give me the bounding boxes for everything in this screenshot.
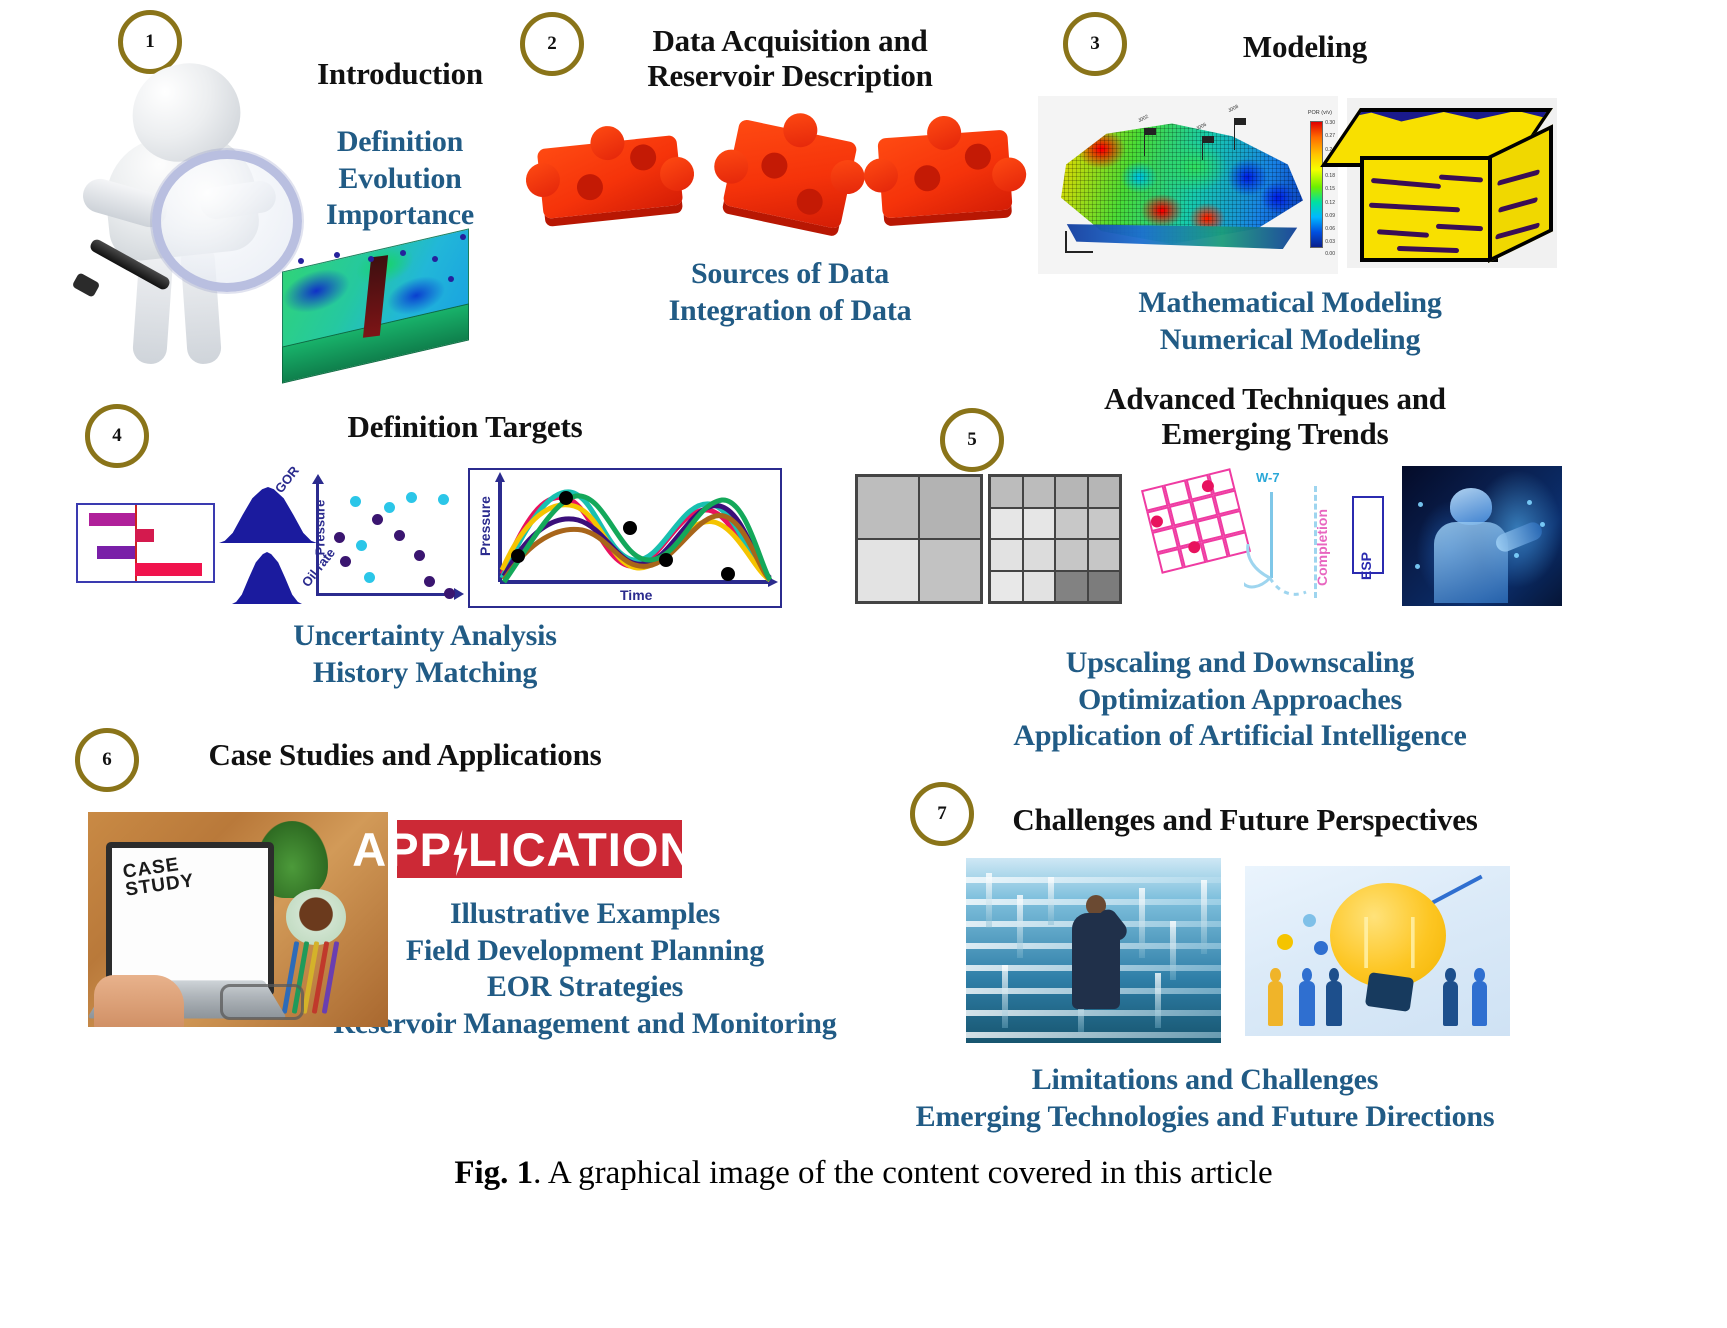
colorbar-tick: 0.00 — [1325, 251, 1335, 257]
person-figure — [1470, 968, 1489, 1026]
case-study-photo: CASE STUDY — [88, 812, 388, 1027]
colorbar-tick: 0.03 — [1325, 239, 1335, 245]
colorbar-tick: 0.12 — [1325, 200, 1335, 206]
section-badge-2: 2 — [520, 12, 584, 76]
section-subtitles-3: Mathematical Modeling Numerical Modeling — [1080, 285, 1500, 358]
section-title-3: Modeling — [1175, 30, 1435, 65]
magnifier-person-3d-icon — [80, 58, 290, 368]
puzzle-piece-3-icon — [877, 130, 1012, 219]
section-number-1: 1 — [145, 32, 155, 51]
colorbar-tick: 0.27 — [1325, 133, 1335, 139]
section-badge-4: 4 — [85, 404, 149, 468]
history-match-curves-icon: Time Pressure — [468, 468, 782, 608]
well-marker-j008: J008 — [1234, 118, 1235, 150]
section-number-5: 5 — [967, 430, 977, 449]
completion-label: Completion — [1314, 509, 1330, 586]
person-figure — [1325, 968, 1344, 1026]
well-completion-schematic-icon: W-7 Completion ESP — [1244, 466, 1394, 606]
probability-distribution-small-icon — [232, 552, 302, 604]
pink-well-grid-icon — [1141, 468, 1251, 574]
section-badge-7: 7 — [910, 782, 974, 846]
section-title-1: Introduction — [250, 57, 550, 92]
figure-caption-label: Fig. 1 — [454, 1155, 533, 1191]
axis-label-pressure-svg: Pressure — [477, 496, 493, 556]
section-number-3: 3 — [1090, 34, 1100, 53]
section-title-7: Challenges and Future Perspectives — [1000, 803, 1490, 838]
colorbar-tick: 0.30 — [1325, 120, 1335, 126]
section-title-2: Data Acquisition and Reservoir Descripti… — [600, 24, 980, 93]
section-title-4: Definition Targets — [275, 410, 655, 445]
section-badge-3: 3 — [1063, 12, 1127, 76]
section-subtitles-7: Limitations and Challenges Emerging Tech… — [690, 1062, 1720, 1135]
person-figure — [1266, 968, 1285, 1026]
axis-label-pressure-scatter: Pressure — [312, 500, 327, 556]
axis-label-time-svg: Time — [620, 587, 653, 603]
colorbar-title: POR (v/v) — [1308, 110, 1332, 116]
applications-banner-right: LICATIONS — [468, 823, 727, 876]
puzzle-piece-1-icon — [537, 135, 684, 219]
fine-grid-icon — [988, 474, 1122, 604]
crossplot-scatter-icon — [316, 480, 456, 596]
probability-distribution-large-icon — [219, 487, 317, 543]
section-title-5: Advanced Techniques and Emerging Trends — [1045, 382, 1505, 451]
reservoir-block-3d-icon — [282, 250, 467, 360]
figure-caption-text: . A graphical image of the content cover… — [533, 1155, 1273, 1191]
lightning-bolt-icon — [450, 830, 470, 876]
ai-robot-image — [1402, 466, 1562, 606]
person-figure — [1298, 968, 1317, 1026]
esp-label: ESP — [1358, 552, 1374, 580]
section-subtitles-2: Sources of Data Integration of Data — [615, 256, 965, 329]
section-title-6: Case Studies and Applications — [195, 738, 615, 773]
porosity-3d-map-icon: J002 J006 J008 POR (v/v) 0.30 0.27 0.24 … — [1038, 96, 1338, 274]
puzzle-piece-2-icon — [722, 118, 858, 229]
person-figure — [1441, 968, 1460, 1026]
section-subtitles-5: Upscaling and Downscaling Optimization A… — [960, 645, 1520, 755]
colorbar-tick: 0.06 — [1325, 226, 1335, 232]
maze-businessman-photo — [966, 858, 1221, 1043]
well-label-j002: J002 — [1137, 114, 1149, 124]
colorbar-tick: 0.18 — [1325, 173, 1335, 179]
colorbar-tick: 0.09 — [1325, 213, 1335, 219]
section-number-6: 6 — [102, 750, 112, 769]
facies-cube-3d-icon — [1347, 98, 1557, 268]
well-label-j008: J008 — [1227, 104, 1239, 114]
esp-box: ESP — [1352, 496, 1384, 574]
section-badge-5: 5 — [940, 408, 1004, 472]
well-marker-j002: J002 — [1144, 128, 1145, 156]
section-number-2: 2 — [547, 34, 557, 53]
well-marker-j006: J006 — [1202, 136, 1203, 160]
applications-banner: APPLICATIONS — [397, 820, 682, 878]
lightbulb-illustration — [1245, 866, 1510, 1036]
graphical-abstract: 1 Introduction Definition Evolution Impo… — [0, 0, 1727, 1328]
section-number-4: 4 — [112, 426, 122, 445]
colorbar-tick: 0.15 — [1325, 186, 1335, 192]
applications-banner-left: APP — [352, 823, 452, 876]
history-match-svg: Time Pressure — [470, 470, 780, 606]
colorbar-tick-labels: 0.30 0.27 0.24 0.21 0.18 0.15 0.12 0.09 … — [1313, 117, 1335, 252]
tornado-chart-icon — [76, 503, 215, 583]
section-subtitles-4: Uncertainty Analysis History Matching — [225, 618, 625, 691]
coarse-grid-icon — [855, 474, 983, 604]
section-number-7: 7 — [937, 804, 947, 823]
section-badge-6: 6 — [75, 728, 139, 792]
figure-caption: Fig. 1. A graphical image of the content… — [0, 1155, 1727, 1192]
